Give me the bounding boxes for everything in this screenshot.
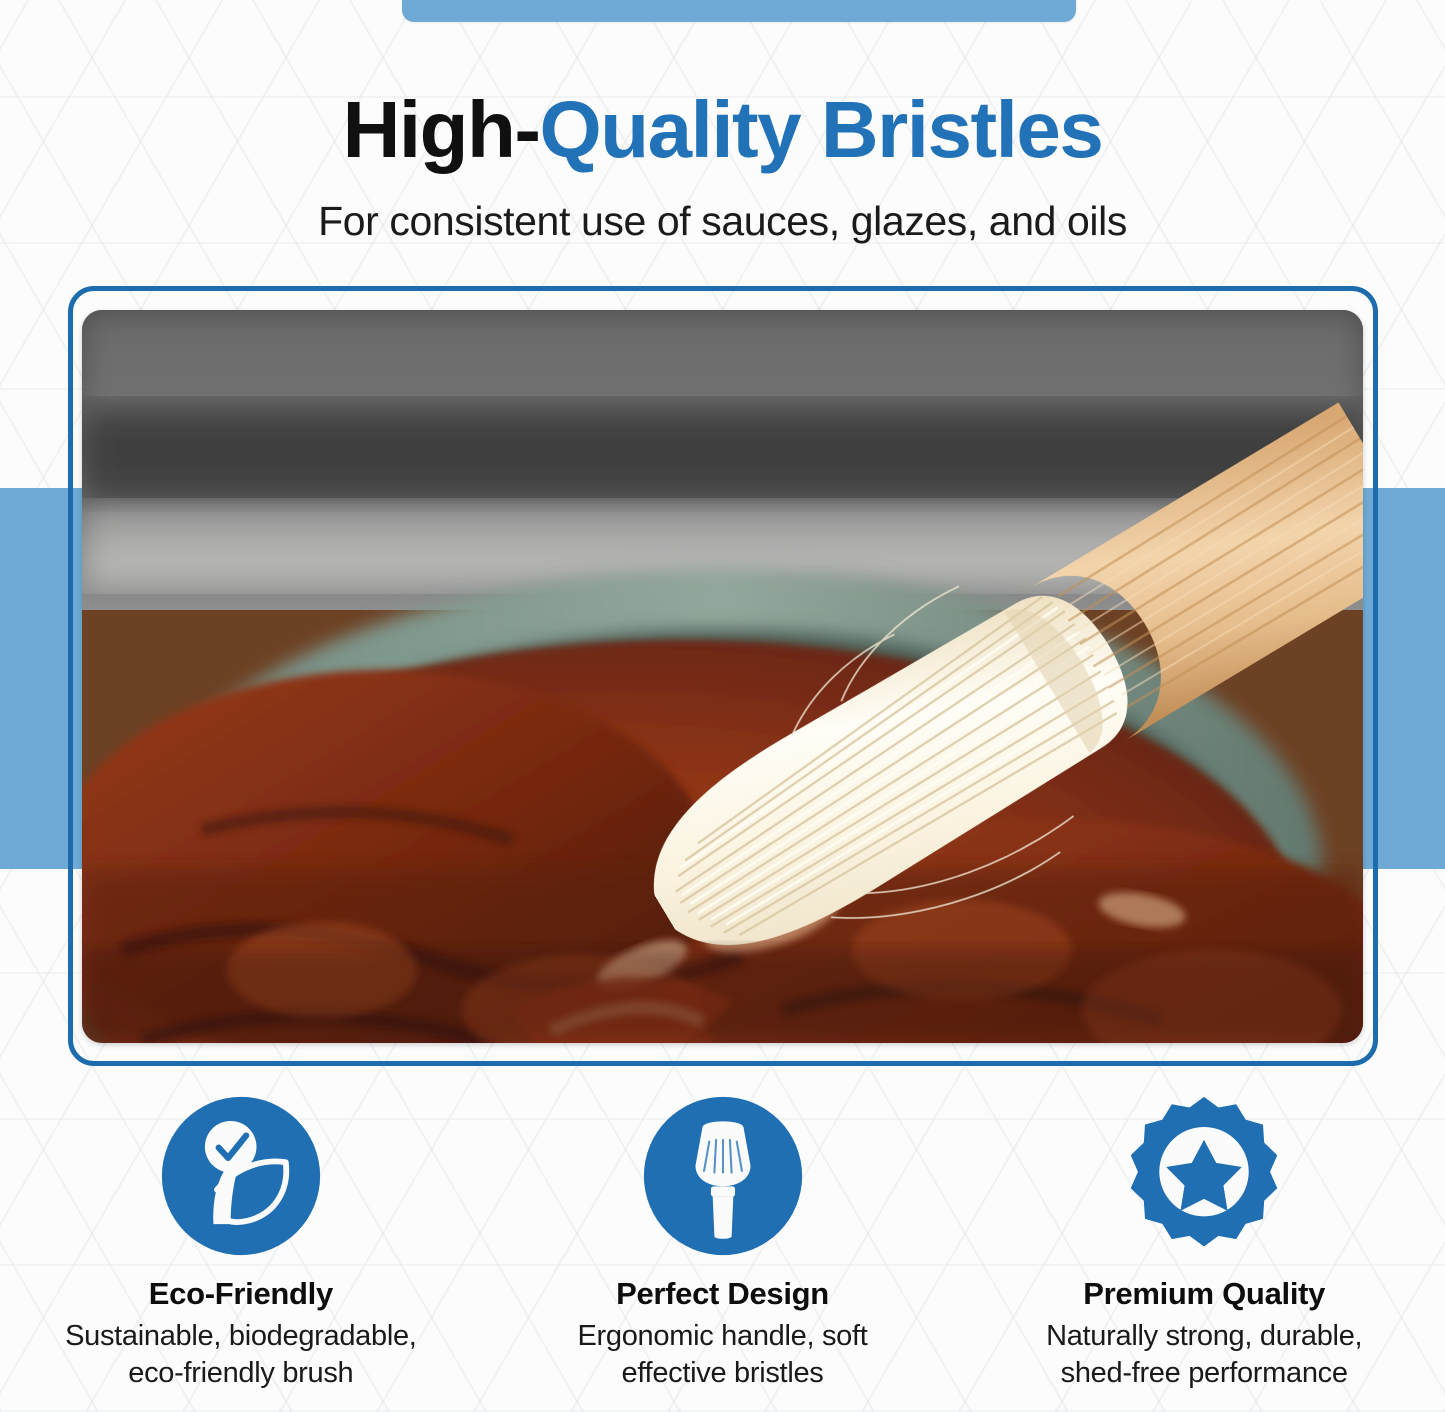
- feature-desc-line2: eco-friendly brush: [128, 1357, 353, 1389]
- top-blue-tab: [402, 0, 1076, 22]
- feature-item-perfect-design: Perfect Design Ergonomic handle, soft ef…: [482, 1090, 964, 1391]
- feature-item-eco-friendly: Eco-Friendly Sustainable, biodegradable,…: [0, 1090, 482, 1391]
- feature-item-premium-quality: Premium Quality Naturally strong, durabl…: [963, 1090, 1445, 1391]
- feature-description: Naturally strong, durable, shed-free per…: [1046, 1318, 1362, 1391]
- feature-title: Perfect Design: [616, 1276, 829, 1312]
- eco-leaf-check-icon: [155, 1090, 327, 1262]
- page-title-accent: Quality Bristles: [540, 85, 1103, 174]
- feature-title: Eco-Friendly: [149, 1276, 333, 1312]
- page-title-lead: High-: [343, 85, 540, 174]
- feature-desc-line2: shed-free performance: [1061, 1357, 1348, 1389]
- feature-desc-line1: Ergonomic handle, soft: [578, 1320, 868, 1352]
- product-feature-banner: High-Quality Bristles For consistent use…: [0, 0, 1445, 1412]
- feature-desc-line2: effective bristles: [622, 1357, 824, 1389]
- feature-description: Ergonomic handle, soft effective bristle…: [578, 1318, 868, 1391]
- basting-brush-icon: [637, 1090, 809, 1262]
- quality-badge-star-icon: [1118, 1090, 1290, 1262]
- hero-product-photo: [82, 310, 1363, 1043]
- feature-desc-line1: Naturally strong, durable,: [1046, 1320, 1362, 1352]
- page-subtitle: For consistent use of sauces, glazes, an…: [0, 198, 1445, 245]
- feature-list: Eco-Friendly Sustainable, biodegradable,…: [0, 1090, 1445, 1391]
- hero-photo-artwork: [82, 310, 1363, 1043]
- feature-desc-line1: Sustainable, biodegradable,: [65, 1320, 416, 1352]
- feature-title: Premium Quality: [1083, 1276, 1325, 1312]
- feature-description: Sustainable, biodegradable, eco-friendly…: [65, 1318, 416, 1391]
- page-title: High-Quality Bristles: [0, 88, 1445, 172]
